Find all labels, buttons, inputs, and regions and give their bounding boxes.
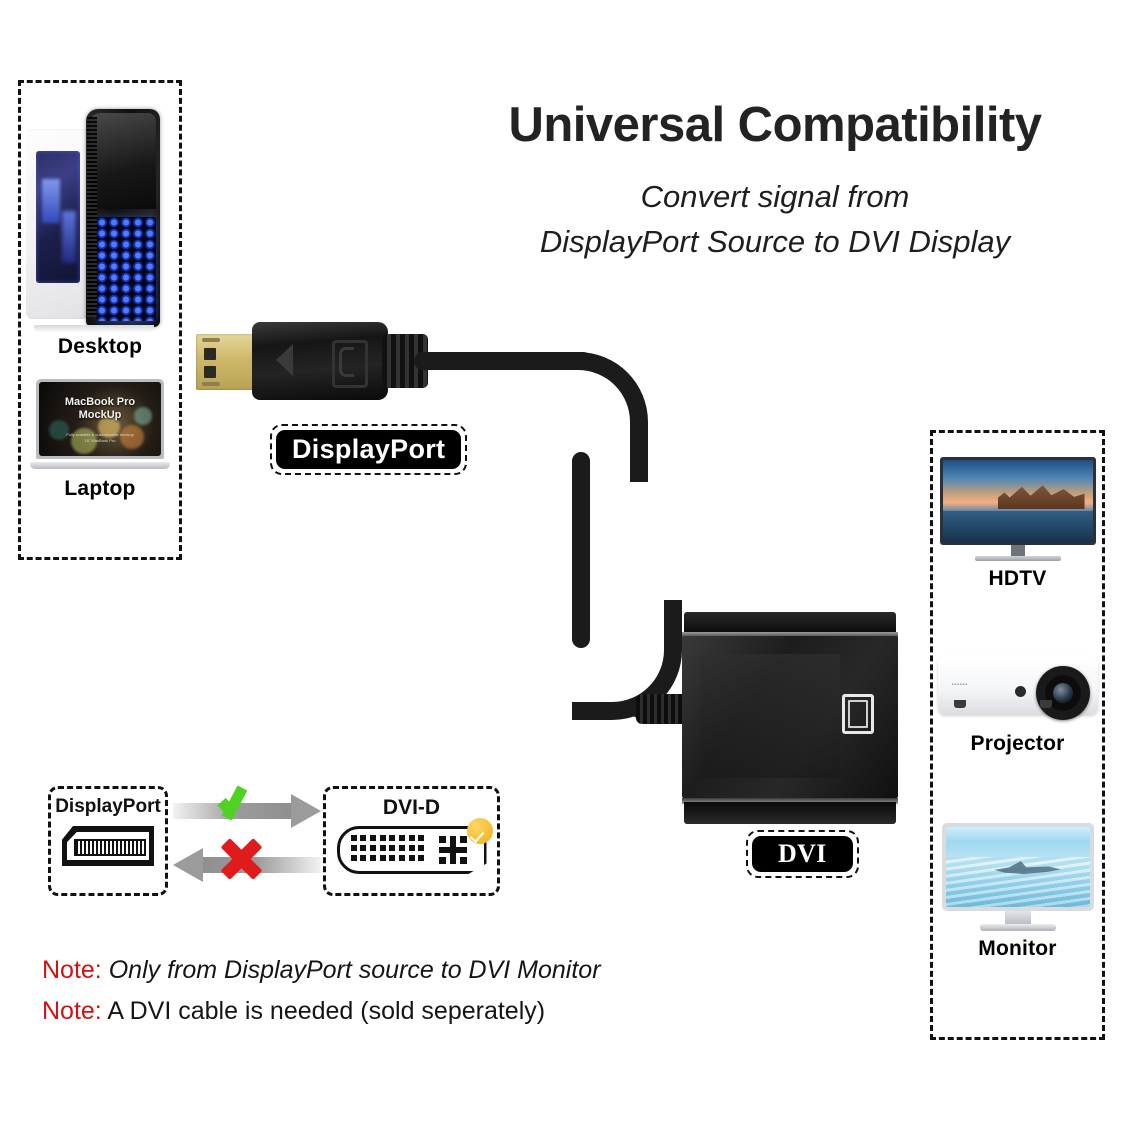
dvi-pin [360, 855, 366, 861]
projector-brand-mark: ▪▪▪▪▪▪ [952, 682, 968, 688]
hdtv-stand-foot [975, 556, 1061, 561]
plug-strain-relief [382, 334, 428, 388]
green-check-icon [219, 782, 245, 828]
dp-port-pins [74, 839, 146, 856]
arrow-head [173, 848, 203, 882]
dvi-pin [380, 855, 386, 861]
cable-bend-lower [572, 600, 682, 720]
dvi-callout-text: DVI [752, 836, 853, 872]
dvi-pin [370, 835, 376, 841]
displayport-d-logo-icon [332, 340, 368, 388]
tower-vent [87, 117, 97, 317]
adapter-bottom-bevel [682, 798, 898, 804]
compat-target-label: DVI-D [326, 796, 497, 820]
compat-source-label: DisplayPort [51, 796, 165, 818]
note-keyword: Note: [42, 956, 102, 984]
displayport-plug [196, 322, 436, 400]
source-device-desktop: Desktop [21, 97, 179, 359]
compat-forward-arrow [173, 794, 321, 828]
laptop-screen-text-line-2: MockUp [79, 409, 122, 421]
monitor-stand-foot [980, 924, 1056, 931]
dvi-pin [370, 845, 376, 851]
display-device-hdtv: HDTV [933, 457, 1102, 591]
dvi-pin [418, 835, 424, 841]
note-text: A DVI cable is needed (sold seperately) [107, 997, 545, 1025]
notes-block: Note: Only from DisplayPort source to DV… [42, 950, 802, 1031]
note-line: Note: A DVI cable is needed (sold sepera… [42, 991, 802, 1032]
hdtv-icon [940, 457, 1096, 565]
adapter-top-bevel [682, 632, 898, 638]
dvi-pin-grid [351, 835, 429, 865]
displayport-plug-housing [252, 322, 388, 400]
dvi-pin [351, 855, 357, 861]
displayport-plug-contacts [196, 334, 260, 390]
tower-side-panel [26, 129, 88, 319]
display-device-projector: ▪▪▪▪▪▪ Projector [933, 648, 1102, 756]
dvi-pin [399, 855, 405, 861]
tower-window [36, 151, 80, 283]
plug-pin [204, 366, 216, 378]
cable-bend-upper [528, 352, 648, 482]
adapter-face-panel [700, 654, 840, 778]
adapter-port-icon [842, 694, 874, 734]
tower-led-mesh [96, 217, 156, 321]
device-label: HDTV [933, 567, 1102, 591]
page-title: Universal Compatibility [430, 100, 1120, 151]
infographic-canvas: Universal Compatibility Convert signal f… [0, 0, 1122, 1122]
device-label: Desktop [21, 335, 179, 359]
hdtv-screen [943, 460, 1093, 542]
note-line: Note: Only from DisplayPort source to DV… [42, 950, 802, 991]
cable-segment-to-adapter [630, 700, 710, 718]
arrow-head [291, 794, 321, 828]
laptop-screen-text: MacBook Pro MockUp [39, 396, 161, 421]
dvi-adapter-body [680, 612, 900, 824]
dvi-pin [399, 845, 405, 851]
laptop-lid: MacBook Pro MockUp Fully scalable & cust… [36, 379, 164, 459]
laptop-screen-subtext-line-1: Fully scalable & customizable mockup [66, 432, 134, 437]
desktop-tower-icon [24, 103, 176, 333]
source-device-laptop: MacBook Pro MockUp Fully scalable & cust… [21, 379, 179, 501]
displayport-callout-text: DisplayPort [276, 430, 461, 469]
adapter-top-cap [684, 612, 896, 634]
dvi-pin [389, 835, 395, 841]
dvi-pin [409, 845, 415, 851]
note-keyword: Note: [42, 997, 102, 1025]
dvi-pin [389, 855, 395, 861]
hdtv-scene-castle [998, 481, 1085, 509]
dvi-pin [389, 845, 395, 851]
laptop-screen-subtext-line-2: 15" MacBook Pro [85, 438, 116, 443]
displayport-callout-label: DisplayPort [270, 424, 467, 475]
monitor-bezel [942, 823, 1094, 911]
cable-segment-horizontal [414, 352, 592, 370]
tower-gloss-top [90, 113, 156, 209]
note-text: Only from DisplayPort source to DVI Moni… [109, 956, 601, 984]
projector-lens [1036, 666, 1090, 720]
dvi-pin [380, 835, 386, 841]
monitor-icon [942, 823, 1094, 935]
laptop-screen: MacBook Pro MockUp Fully scalable & cust… [39, 382, 161, 456]
dvi-blade-pins [439, 836, 467, 864]
dvi-pin [418, 845, 424, 851]
dvi-pin [409, 835, 415, 841]
adapter-bottom-cap [684, 802, 896, 824]
arrow-right-icon [173, 794, 321, 828]
red-cross-icon [221, 838, 263, 880]
projector-lens-inner [1053, 683, 1073, 703]
monitor-screen [946, 827, 1090, 907]
tower-foot [34, 325, 154, 333]
dvi-pin [351, 835, 357, 841]
subtitle-line-1: Convert signal from [430, 175, 1120, 220]
laptop-screen-text-line-1: MacBook Pro [65, 396, 135, 408]
tower-front-panel [86, 109, 160, 327]
dvi-callout-label: DVI [746, 830, 859, 878]
laptop-icon: MacBook Pro MockUp Fully scalable & cust… [30, 379, 170, 475]
plug-tab [202, 382, 220, 386]
projector-icon: ▪▪▪▪▪▪ [938, 648, 1098, 730]
dvi-pin [360, 845, 366, 851]
subtitle-line-2: DisplayPort Source to DVI Display [430, 220, 1120, 265]
device-label: Monitor [933, 937, 1102, 961]
monitor-stand-neck [1005, 911, 1031, 925]
dvi-pin [399, 835, 405, 841]
dvi-pin [380, 845, 386, 851]
projector-leg [1040, 700, 1052, 708]
laptop-base [30, 462, 170, 469]
projector-focus-knob [1015, 686, 1026, 697]
plug-tab [202, 338, 220, 342]
check-badge-icon [467, 818, 493, 844]
dvi-pin [360, 835, 366, 841]
source-devices-panel: Desktop MacBook Pro MockUp [18, 80, 182, 560]
cable-segment-vertical [572, 452, 590, 648]
dvi-pin [370, 855, 376, 861]
dvi-pin [409, 855, 415, 861]
cable-boot [636, 694, 688, 724]
display-device-monitor: Monitor [933, 823, 1102, 961]
heading-block: Universal Compatibility Convert signal f… [430, 100, 1120, 265]
display-devices-panel: HDTV ▪▪▪▪▪▪ Projector [930, 430, 1105, 1040]
displayport-arrow-logo-icon [276, 344, 293, 376]
device-label: Laptop [21, 477, 179, 501]
dvi-d-connector-icon [337, 826, 487, 874]
laptop-screen-subtext: Fully scalable & customizable mockup 15"… [39, 432, 161, 444]
adapter-face [682, 636, 898, 798]
projector-body: ▪▪▪▪▪▪ [938, 656, 1098, 714]
compatibility-diagram: DisplayPort DVI-D [48, 786, 500, 898]
hdtv-bezel [940, 457, 1096, 545]
device-label: Projector [933, 732, 1102, 756]
compat-target-connector: DVI-D [323, 786, 500, 896]
hdtv-scene-water [943, 511, 1093, 542]
displayport-connector-icon [62, 826, 154, 866]
plug-pin [204, 348, 216, 360]
dvi-pin [418, 855, 424, 861]
compat-reverse-arrow [173, 848, 321, 882]
dvi-pin [351, 845, 357, 851]
compat-source-connector: DisplayPort [48, 786, 168, 896]
projector-leg [954, 700, 966, 708]
